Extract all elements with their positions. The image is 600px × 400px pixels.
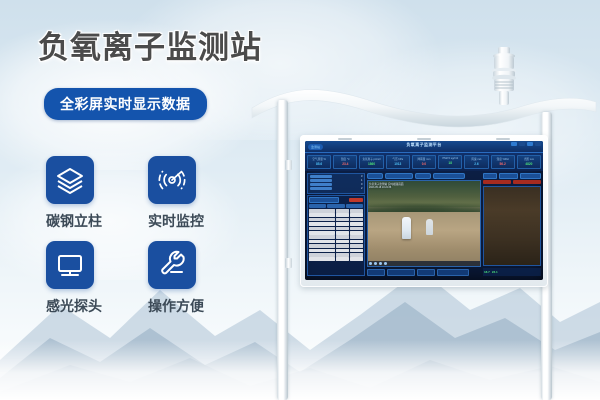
- metric-value: 1860: [360, 162, 382, 166]
- table-search-input[interactable]: [309, 197, 339, 203]
- readout-value: 23.1: [492, 270, 498, 274]
- table-row[interactable]: [308, 244, 364, 248]
- video-feed[interactable]: 负氧离子监测站 实时视频画面 2023-05-18 10:24:36: [367, 180, 481, 267]
- left-pole: [277, 100, 288, 400]
- right-footer-bar: 18.7 23.1: [483, 268, 541, 276]
- filter-select[interactable]: [385, 173, 413, 179]
- metric-card[interactable]: 温度 ℃ 23.4: [333, 155, 357, 169]
- metric-label: 气压 hPa: [387, 157, 409, 161]
- layers-icon: [46, 156, 94, 204]
- weather-sensor-icon: [487, 46, 521, 108]
- secondary-camera-feed[interactable]: [483, 186, 541, 267]
- radar-monitor-icon: [148, 156, 196, 204]
- dashboard-right-column: 18.7 23.1: [483, 173, 541, 276]
- table-row[interactable]: [308, 257, 364, 261]
- data-table[interactable]: [307, 195, 365, 276]
- metric-card[interactable]: 光照 Lux 4820: [517, 155, 541, 169]
- table-row[interactable]: [308, 240, 364, 244]
- filter-label: [415, 173, 431, 179]
- metric-value: 23.4: [334, 162, 356, 166]
- vent-mark: [417, 138, 431, 140]
- snapshot-icon[interactable]: [379, 262, 382, 265]
- filter-label: [367, 173, 383, 179]
- readout-value: 18.7: [484, 270, 490, 274]
- mini-stat-value: 3: [361, 175, 362, 178]
- table-row[interactable]: [308, 231, 364, 235]
- metric-card-row: 空气质量 % 85.6 温度 ℃ 23.4 负氧离子 p/cm3 1860 气压…: [305, 153, 543, 171]
- table-row[interactable]: [308, 253, 364, 257]
- metric-label: 降雨量 mm: [413, 157, 435, 161]
- metric-value: 2.6: [465, 162, 487, 166]
- feature-item-carbon-steel-pole[interactable]: 碳钢立柱: [46, 156, 146, 231]
- footer-select[interactable]: [387, 269, 415, 276]
- feature-item-easy-operation[interactable]: 操作方便: [148, 241, 248, 316]
- metric-label: PM2.5 ug/m3: [439, 157, 461, 160]
- play-icon[interactable]: [369, 262, 372, 265]
- dashboard-tag: 监测站: [308, 144, 323, 150]
- tool-icon[interactable]: [519, 142, 525, 146]
- wrench-icon: [148, 241, 196, 289]
- right-tab[interactable]: [520, 173, 541, 179]
- feature-label: 操作方便: [148, 296, 204, 316]
- video-footer-bar[interactable]: [367, 269, 481, 276]
- metric-card[interactable]: 降雨量 mm 0.0: [412, 155, 436, 169]
- metric-value: 56.2: [492, 162, 514, 166]
- footer-label: [417, 269, 435, 276]
- metric-label: 光照 Lux: [518, 157, 540, 161]
- pause-icon[interactable]: [374, 262, 377, 265]
- dashboard-header: 监测站 负氧离子监测平台: [305, 141, 543, 153]
- table-row[interactable]: [308, 249, 364, 253]
- fullscreen-icon[interactable]: [384, 262, 387, 265]
- filter-select[interactable]: [433, 173, 465, 179]
- dashboard-left-column: 3 1 0 2: [307, 173, 365, 276]
- mini-stat-value: 0: [361, 183, 362, 186]
- table-row[interactable]: [308, 213, 364, 217]
- tool-icon[interactable]: [535, 142, 541, 146]
- feature-item-light-sensor[interactable]: 感光探头: [46, 241, 146, 316]
- metric-label: 湿度 %RH: [492, 157, 514, 161]
- feature-label: 碳钢立柱: [46, 211, 102, 231]
- metric-value: 18: [439, 161, 461, 165]
- alert-badge[interactable]: [483, 180, 511, 184]
- right-tab[interactable]: [483, 173, 497, 179]
- feature-label: 感光探头: [46, 296, 102, 316]
- page-title: 负氧离子监测站: [38, 22, 262, 67]
- metric-card[interactable]: 风速 m/s 2.6: [464, 155, 488, 169]
- metric-card[interactable]: 空气质量 % 85.6: [307, 155, 331, 169]
- video-person: [426, 219, 433, 235]
- alert-row: [483, 180, 541, 184]
- feature-grid: 碳钢立柱 实时监控: [46, 156, 250, 316]
- dashboard-toolbar[interactable]: [511, 142, 541, 146]
- table-row[interactable]: [308, 222, 364, 226]
- display-monitor-icon: [46, 241, 94, 289]
- right-tab-bar[interactable]: [483, 173, 541, 179]
- metric-card[interactable]: 湿度 %RH 56.2: [491, 155, 515, 169]
- hero-badge: 全彩屏实时显示数据: [44, 88, 207, 120]
- table-row[interactable]: [308, 209, 364, 213]
- metric-value: 0.0: [413, 162, 435, 166]
- vent-mark: [496, 138, 510, 140]
- table-action-button[interactable]: [349, 198, 363, 202]
- feature-label: 实时监控: [148, 211, 204, 231]
- video-treeline: [368, 200, 480, 212]
- metric-label: 空气质量 %: [308, 157, 330, 161]
- video-controls[interactable]: [368, 261, 480, 266]
- table-row[interactable]: [308, 227, 364, 231]
- video-person: [402, 217, 411, 239]
- metric-card[interactable]: 负氧离子 p/cm3 1860: [359, 155, 383, 169]
- table-column-header: [346, 204, 363, 208]
- mini-stat-label: [310, 175, 332, 178]
- mini-stat-row: 1: [310, 179, 363, 182]
- pole-fitting: [285, 160, 292, 170]
- vent-mark: [338, 138, 352, 140]
- dashboard-center-column: 负氧离子监测站 实时视频画面 2023-05-18 10:24:36: [367, 173, 481, 276]
- table-column-header: [327, 204, 344, 208]
- metric-value: 85.6: [308, 162, 330, 166]
- mini-stat-row: 3: [310, 175, 363, 178]
- right-tab[interactable]: [499, 173, 518, 179]
- dashboard-screen[interactable]: 监测站 负氧离子监测平台 空气质量 % 85.6: [305, 141, 543, 280]
- metric-card[interactable]: 气压 hPa 1013: [386, 155, 410, 169]
- mini-stat-row: 0: [310, 183, 363, 186]
- pole-fitting: [285, 258, 292, 268]
- alert-badge[interactable]: [513, 180, 541, 184]
- tool-icon[interactable]: [527, 142, 533, 146]
- metric-label: 温度 ℃: [334, 157, 356, 161]
- table-toolbar[interactable]: [308, 196, 364, 204]
- mini-stat-value: 1: [361, 179, 362, 182]
- video-filter-bar[interactable]: [367, 173, 481, 179]
- mini-stat-label: [310, 183, 332, 186]
- metric-card[interactable]: PM2.5 ug/m3 18: [438, 155, 462, 169]
- table-row[interactable]: [308, 235, 364, 239]
- footer-label: [367, 269, 385, 276]
- footer-select[interactable]: [437, 269, 469, 276]
- table-column-header: [309, 204, 326, 208]
- dashboard-body: 3 1 0 2: [305, 171, 543, 278]
- video-osd-time: 2023-05-18 10:24:36: [369, 186, 391, 189]
- metric-value: 1013: [387, 162, 409, 166]
- tool-icon[interactable]: [511, 142, 517, 146]
- mini-stat-label: [310, 179, 332, 182]
- table-row[interactable]: [308, 218, 364, 222]
- screenshot-root: 监测站 负氧离子监测平台 空气质量 % 85.6: [0, 0, 600, 400]
- led-display-frame: 监测站 负氧离子监测平台 空气质量 % 85.6: [300, 135, 548, 287]
- dashboard-title: 负氧离子监测平台: [406, 142, 441, 148]
- metric-label: 风速 m/s: [465, 157, 487, 161]
- metric-label: 负氧离子 p/cm3: [360, 157, 382, 161]
- mini-stat-row: 2: [310, 187, 363, 190]
- metric-value: 4820: [518, 162, 540, 166]
- mini-stat-label: [310, 187, 332, 190]
- mini-stat-value: 2: [361, 187, 362, 190]
- feature-item-realtime-monitoring[interactable]: 实时监控: [148, 156, 248, 231]
- mini-stats-panel: 3 1 0 2: [307, 173, 365, 194]
